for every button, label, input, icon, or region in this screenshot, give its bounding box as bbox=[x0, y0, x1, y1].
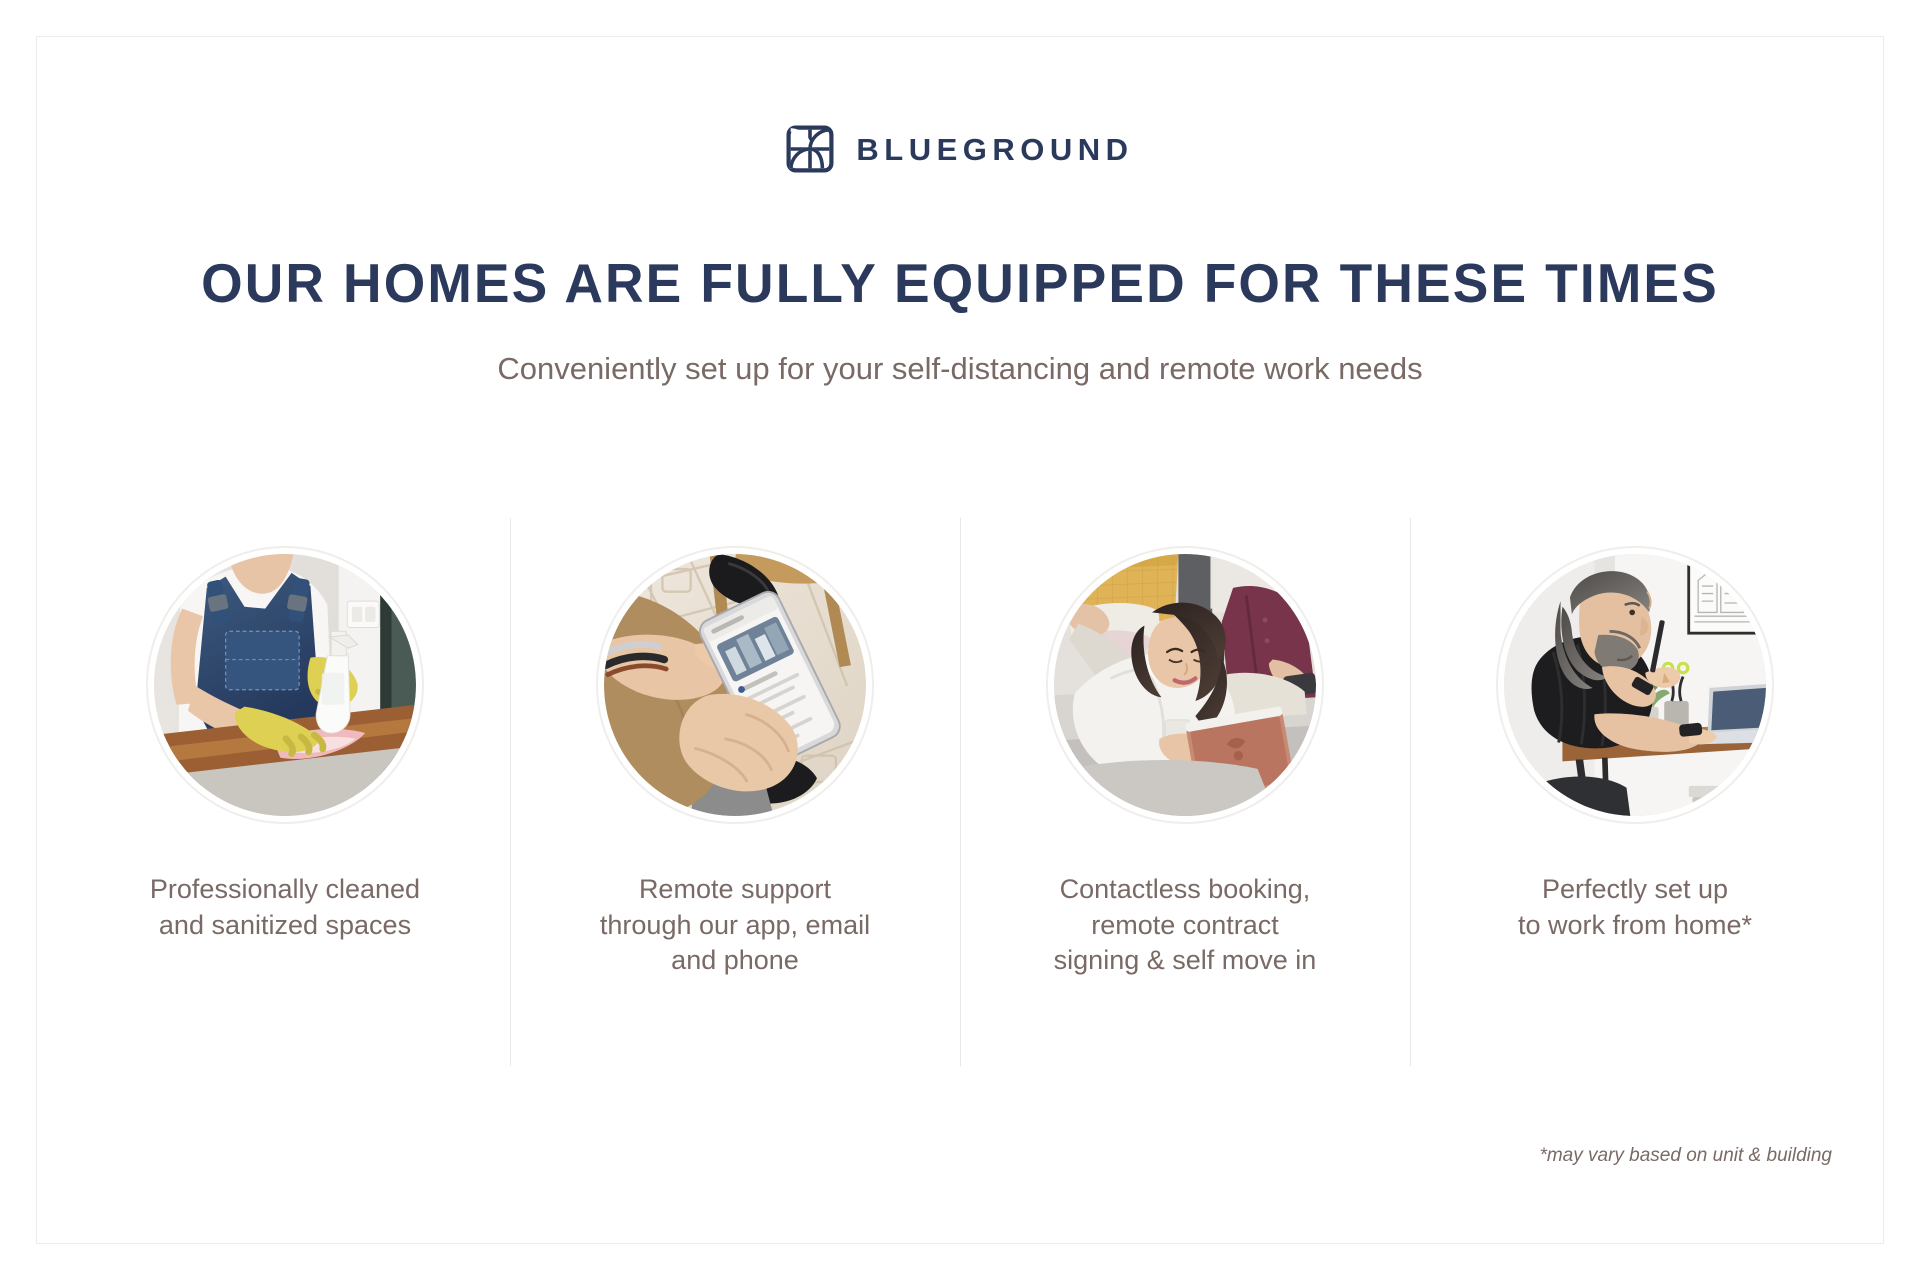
feature-image-frame bbox=[1496, 546, 1774, 824]
hands-holding-phone-app-photo bbox=[604, 554, 866, 816]
page-title: OUR HOMES ARE FULLY EQUIPPED FOR THESE T… bbox=[29, 255, 1891, 313]
brand-wordmark: BLUEGROUND bbox=[856, 134, 1133, 165]
woman-on-bed-with-tablet-photo bbox=[1054, 554, 1316, 816]
footnote: *may vary based on unit & building bbox=[1539, 1145, 1832, 1167]
feature-caption: Remote support through our app, email an… bbox=[586, 872, 884, 979]
man-working-at-desk-laptop-photo bbox=[1504, 554, 1766, 816]
feature-columns: Professionally cleaned and sanitized spa… bbox=[60, 518, 1860, 1066]
feature-column-contactless-booking: Contactless booking, remote contract sig… bbox=[960, 518, 1410, 1066]
page-subtitle: Conveniently set up for your self-distan… bbox=[0, 350, 1920, 387]
feature-caption: Contactless booking, remote contract sig… bbox=[1040, 872, 1331, 979]
poster-page: BLUEGROUND OUR HOMES ARE FULLY EQUIPPED … bbox=[0, 0, 1920, 1280]
feature-column-work-from-home: Perfectly set up to work from home* bbox=[1410, 518, 1860, 1066]
cleaner-sanitizing-counter-photo bbox=[154, 554, 416, 816]
feature-caption: Professionally cleaned and sanitized spa… bbox=[136, 872, 434, 943]
brand-logo: BLUEGROUND bbox=[0, 125, 1920, 173]
feature-image-frame bbox=[1046, 546, 1324, 824]
feature-image-frame bbox=[146, 546, 424, 824]
feature-caption: Perfectly set up to work from home* bbox=[1504, 872, 1766, 943]
blueground-square-mark-icon bbox=[786, 125, 834, 173]
feature-image-frame bbox=[596, 546, 874, 824]
feature-column-cleaning: Professionally cleaned and sanitized spa… bbox=[60, 518, 510, 1066]
feature-column-remote-support: Remote support through our app, email an… bbox=[510, 518, 960, 1066]
